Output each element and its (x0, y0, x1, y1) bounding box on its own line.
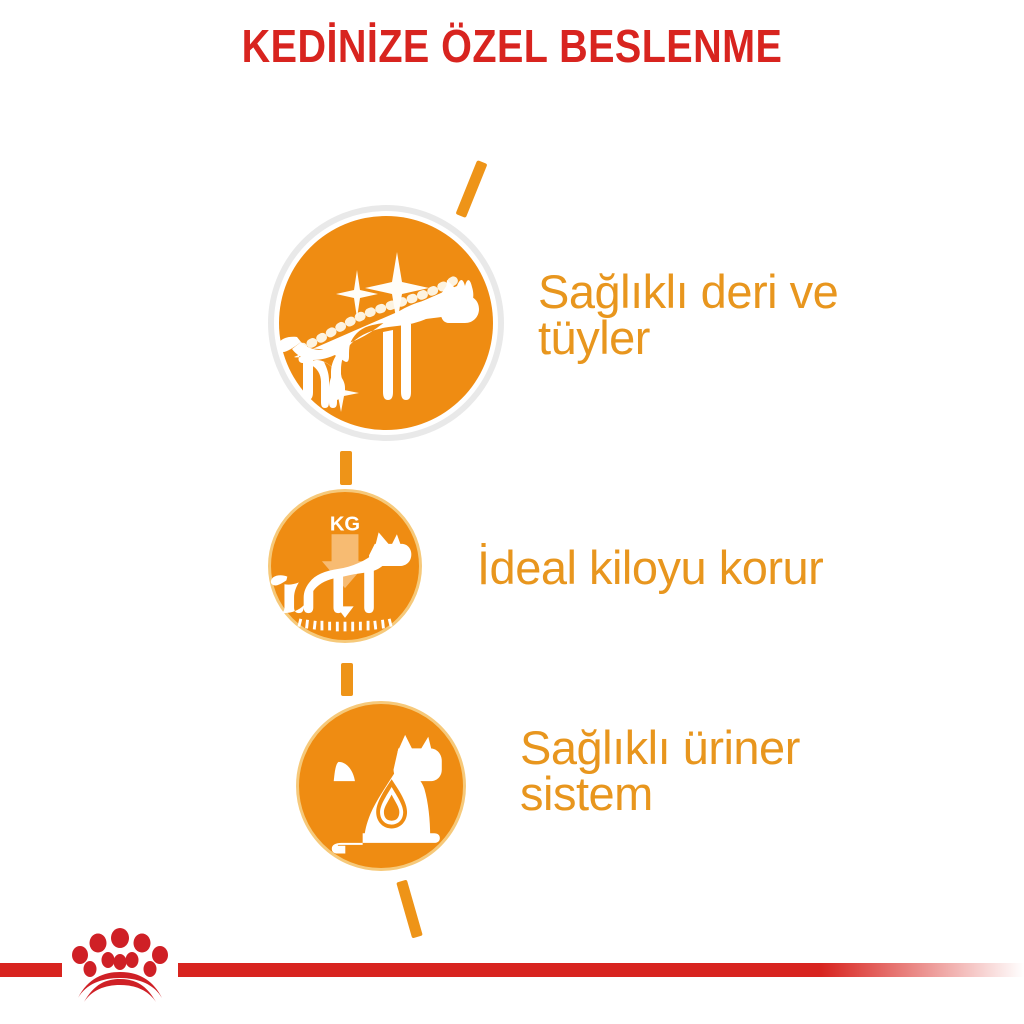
benefit-icon-circle-skin-and-coat[interactable] (279, 216, 493, 430)
benefit-label-line-2: tüyler (538, 315, 978, 361)
connector-dash-above-circle-1 (456, 160, 488, 218)
page-title: KEDİNİZE ÖZEL BESLENME (72, 22, 953, 70)
infographic-page: KEDİNİZE ÖZEL BESLENME (0, 0, 1024, 1024)
benefit-row-urinary-health: Sağlıklı üriner sistem (0, 0, 1024, 1024)
benefit-icon-circle-ideal-weight[interactable]: KG (268, 489, 422, 643)
crown-icon (62, 922, 178, 1010)
royal-canin-crown-logo (62, 922, 178, 1010)
benefit-label-urinary-health: Sağlıklı üriner sistem (520, 725, 960, 817)
benefit-label-line-1: İdeal kiloyu korur (477, 545, 997, 591)
footer-bar-left (0, 963, 62, 977)
benefit-row-skin-and-coat: Sağlıklı deri ve tüyler (0, 0, 1024, 1024)
kg-badge-text: KG (330, 513, 360, 535)
benefit-label-skin-and-coat: Sağlıklı deri ve tüyler (538, 269, 978, 361)
benefit-label-line-1: Sağlıklı üriner (520, 725, 960, 771)
benefit-label-line-1: Sağlıklı deri ve (538, 269, 978, 315)
connector-dash-between-2-and-3 (341, 663, 353, 696)
connector-dash-below-circle-3 (396, 880, 423, 939)
benefit-label-line-2: sistem (520, 771, 960, 817)
benefit-label-ideal-weight: İdeal kiloyu korur (477, 545, 997, 591)
walking-cat-sparkles-icon (279, 216, 493, 430)
cat-on-scale-kg-icon: KG (271, 492, 419, 640)
connector-dash-between-1-and-2 (340, 451, 352, 485)
footer-bar-right (178, 963, 1024, 977)
sitting-cat-water-drop-icon (299, 704, 463, 868)
benefit-icon-circle-urinary-health[interactable] (296, 701, 466, 871)
benefit-row-ideal-weight: KG (0, 0, 1024, 1024)
